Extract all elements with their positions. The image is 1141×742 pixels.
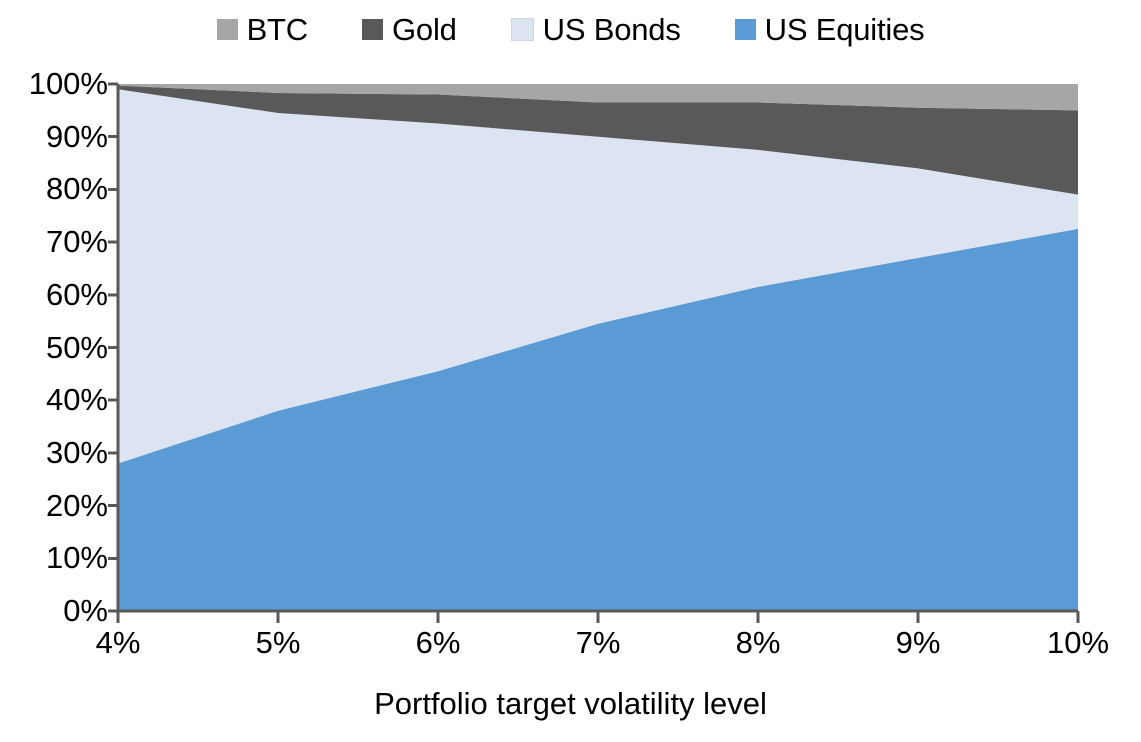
x-axis-labels: 4%5%6%7%8%9%10% bbox=[0, 625, 1141, 669]
y-tick-label: 10% bbox=[2, 542, 108, 573]
area-series-group bbox=[118, 84, 1078, 611]
x-tick-label: 4% bbox=[96, 625, 141, 661]
y-tick-label: 80% bbox=[2, 173, 108, 204]
y-tick-label: 50% bbox=[2, 332, 108, 363]
y-tick-label: 40% bbox=[2, 384, 108, 415]
x-tick-label: 10% bbox=[1047, 625, 1109, 661]
y-tick-label: 70% bbox=[2, 226, 108, 257]
y-tick-label: 0% bbox=[2, 595, 108, 626]
y-tick-label: 100% bbox=[2, 68, 108, 99]
stacked-area-chart: BTC Gold US Bonds US Equities 0%10%20%30… bbox=[0, 0, 1141, 742]
x-axis-title: Portfolio target volatility level bbox=[0, 686, 1141, 722]
x-tick-label: 5% bbox=[256, 625, 301, 661]
y-tick-label: 30% bbox=[2, 437, 108, 468]
x-tick-label: 7% bbox=[576, 625, 621, 661]
y-tick-label: 60% bbox=[2, 279, 108, 310]
x-tick-label: 6% bbox=[416, 625, 461, 661]
x-tick-label: 8% bbox=[736, 625, 781, 661]
y-tick-label: 90% bbox=[2, 121, 108, 152]
y-tick-label: 20% bbox=[2, 490, 108, 521]
x-tick-label: 9% bbox=[896, 625, 941, 661]
